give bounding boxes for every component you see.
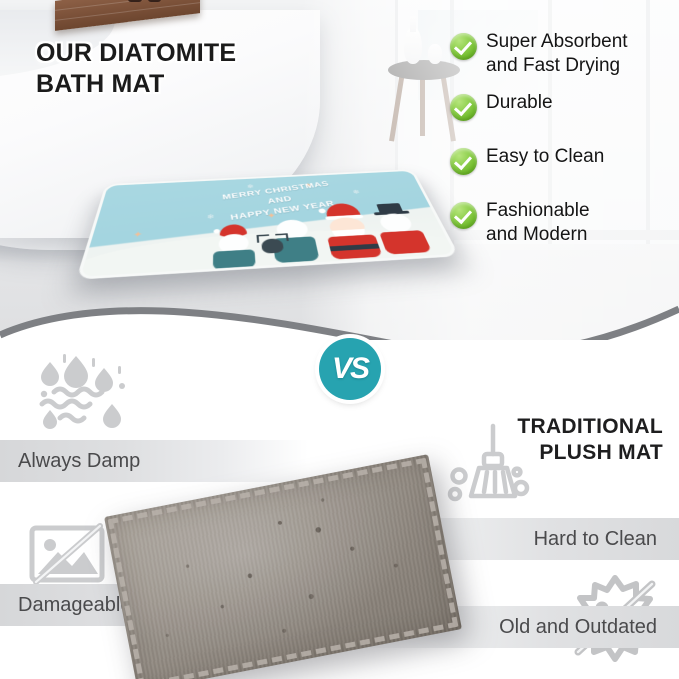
water-droplets-icon bbox=[36, 352, 128, 430]
broken-image-icon bbox=[28, 522, 108, 588]
snowman-character bbox=[210, 223, 264, 269]
check-circle-icon bbox=[450, 202, 477, 229]
feature-item: Super Absorbent and Fast Drying bbox=[450, 30, 675, 77]
check-circle-icon bbox=[450, 94, 477, 121]
con-label-text: Always Damp bbox=[18, 450, 140, 473]
bottle bbox=[148, 0, 161, 2]
feature-label: Super Absorbent and Fast Drying bbox=[486, 30, 628, 77]
product-infographic: ❄ ❄ ❄ ● ✦ ✦ ✦ MERRY CHRISTMASANDHAPPY NE… bbox=[0, 0, 679, 679]
traditional-mat-title: TRADITIONAL PLUSH MAT bbox=[517, 414, 663, 465]
feature-label: Easy to Clean bbox=[486, 145, 604, 169]
con-label-text: Hard to Clean bbox=[534, 528, 657, 551]
top-section: ❄ ❄ ❄ ● ✦ ✦ ✦ MERRY CHRISTMASANDHAPPY NE… bbox=[0, 0, 679, 345]
feature-list: Super Absorbent and Fast Drying Durable … bbox=[450, 30, 675, 260]
feature-item: Durable bbox=[450, 91, 675, 131]
snowman-character bbox=[367, 202, 441, 255]
feature-label: Durable bbox=[486, 91, 553, 115]
feature-item: Easy to Clean bbox=[450, 145, 675, 185]
mat-greeting-line-2: AND bbox=[267, 195, 294, 206]
reindeer-character bbox=[252, 233, 292, 264]
check-circle-icon bbox=[450, 33, 477, 60]
versus-badge: VS bbox=[319, 338, 381, 400]
page-title: OUR DIATOMITE BATH MAT bbox=[36, 38, 236, 101]
con-label-text: Old and Outdated bbox=[499, 616, 657, 639]
versus-label: VS bbox=[332, 354, 368, 384]
con-label-text: Damageable bbox=[18, 594, 131, 617]
snowman-character bbox=[267, 217, 327, 265]
con-label-always-damp: Always Damp bbox=[0, 440, 308, 482]
feature-item: Fashionable and Modern bbox=[450, 199, 675, 246]
check-circle-icon bbox=[450, 148, 477, 175]
feature-label: Fashionable and Modern bbox=[486, 199, 590, 246]
bottle bbox=[128, 0, 142, 2]
